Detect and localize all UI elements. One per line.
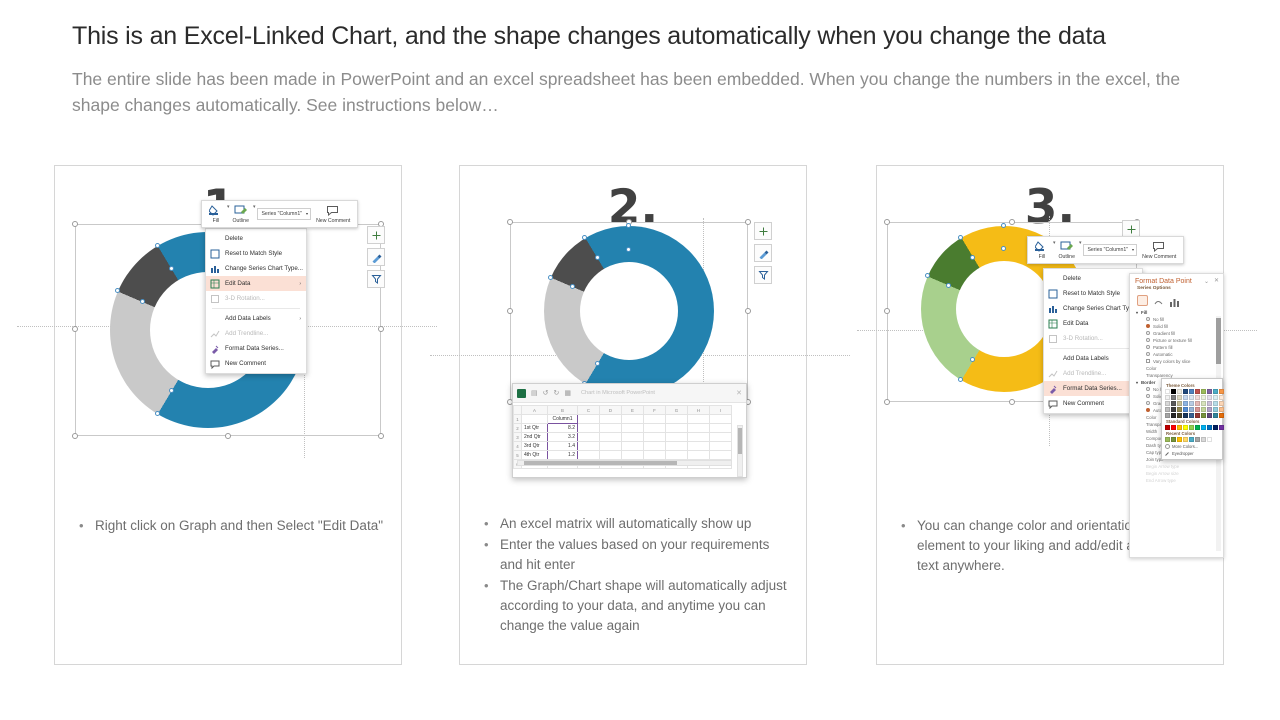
table-row[interactable]: 21st Qtr8.2: [514, 424, 732, 433]
chart-filters-icon[interactable]: [754, 266, 772, 284]
color-swatch[interactable]: [1171, 413, 1176, 418]
format-option-label: Border: [1141, 380, 1155, 385]
menu-item-label: Format Data Series...: [225, 345, 284, 352]
comment-icon: [326, 205, 340, 218]
menu-item-label: Reset to Match Style: [1063, 290, 1120, 297]
color-swatch[interactable]: [1183, 437, 1188, 442]
sheet-cell[interactable]: [644, 424, 666, 433]
sheet-cell[interactable]: [710, 415, 732, 424]
sheet-cell[interactable]: 1.2: [548, 451, 578, 460]
mini-toolbar[interactable]: Fill ▾ Outline ▾ Series "Column1" ▾ New …: [201, 200, 358, 228]
color-swatch[interactable]: [1171, 407, 1176, 412]
edit-data-icon: [210, 279, 220, 289]
close-icon[interactable]: ✕: [736, 389, 742, 397]
donut-chart[interactable]: [544, 226, 714, 396]
menu-item-new-comment[interactable]: New Comment: [206, 356, 306, 371]
radio-icon: [1146, 401, 1150, 405]
sheet-cell[interactable]: [688, 415, 710, 424]
bullet-item: An excel matrix will automatically show …: [498, 514, 794, 534]
data-point-handle[interactable]: [595, 361, 600, 366]
sheet-cell[interactable]: [600, 415, 622, 424]
color-swatch[interactable]: [1207, 413, 1212, 418]
data-point-handle[interactable]: [595, 255, 600, 260]
color-swatch[interactable]: [1189, 437, 1194, 442]
menu-item-reset-to-match-style[interactable]: Reset to Match Style: [206, 246, 306, 261]
color-swatch[interactable]: [1165, 425, 1170, 430]
resize-handle-w[interactable]: [72, 326, 78, 332]
color-swatch[interactable]: [1213, 407, 1218, 412]
color-swatch[interactable]: [1177, 395, 1182, 400]
resize-handle-w[interactable]: [507, 308, 513, 314]
color-swatch[interactable]: [1201, 401, 1206, 406]
column-header[interactable]: A: [522, 406, 548, 415]
sheet-cell[interactable]: [600, 424, 622, 433]
table-row[interactable]: 54th Qtr1.2: [514, 451, 732, 460]
sheet-cell[interactable]: [578, 433, 600, 442]
sheet-cell[interactable]: 1.4: [548, 442, 578, 451]
format-option-begin-arrow-size: Begin Arrow size: [1130, 470, 1223, 477]
menu-item-delete[interactable]: Delete: [1044, 271, 1142, 286]
data-point-handle[interactable]: [1001, 223, 1006, 228]
sheet-cell[interactable]: [622, 433, 644, 442]
sheet-cell[interactable]: [688, 424, 710, 433]
format-option-solid-fill[interactable]: Solid fill: [1130, 323, 1223, 330]
menu-item-delete[interactable]: Delete: [206, 231, 306, 246]
pin-icon[interactable]: ⌄: [1204, 278, 1209, 285]
vertical-scrollbar[interactable]: [737, 425, 743, 477]
color-swatch[interactable]: [1195, 395, 1200, 400]
step-panel-3: 3. Fill: [876, 165, 1224, 665]
sheet-cell[interactable]: Column1: [548, 415, 578, 424]
chart-filters-icon[interactable]: [367, 270, 385, 288]
color-swatch[interactable]: [1183, 407, 1188, 412]
table-row[interactable]: 43rd Qtr1.4: [514, 442, 732, 451]
color-swatch[interactable]: [1189, 389, 1194, 394]
chart-styles-icon[interactable]: [754, 244, 772, 262]
eyedropper-button[interactable]: Eyedropper: [1165, 451, 1219, 456]
series-options-tab-icon[interactable]: [1169, 295, 1180, 306]
color-swatch[interactable]: [1195, 413, 1200, 418]
resize-handle-ne[interactable]: [745, 219, 751, 225]
column-header[interactable]: F: [644, 406, 666, 415]
fill-button[interactable]: Fill: [1032, 240, 1052, 261]
radio-icon: [1146, 394, 1150, 398]
open-in-excel-icon[interactable]: ▦: [564, 389, 571, 397]
format-option-gradient-fill[interactable]: Gradient fill: [1130, 330, 1223, 337]
menu-item-label: Add Data Labels: [1063, 355, 1109, 362]
bullet-item: The Graph/Chart shape will automatically…: [498, 576, 794, 636]
color-swatch[interactable]: [1207, 437, 1212, 442]
sheet-cell[interactable]: [622, 451, 644, 460]
data-point-handle[interactable]: [140, 299, 145, 304]
sheet-cell[interactable]: [666, 451, 688, 460]
format-option-label: Begin Arrow size: [1146, 471, 1179, 476]
data-labels-icon: [1048, 354, 1058, 364]
column-header[interactable]: I: [710, 406, 732, 415]
sheet-cell[interactable]: [600, 451, 622, 460]
resize-handle-s[interactable]: [225, 433, 231, 439]
color-picker-popup[interactable]: Theme Colors Standard Colors Recent Colo…: [1161, 378, 1223, 460]
sheet-cell[interactable]: [622, 415, 644, 424]
standard-colors-grid[interactable]: [1165, 425, 1219, 430]
format-option-label: Color: [1146, 366, 1157, 371]
format-option-pattern-fill[interactable]: Pattern fill: [1130, 344, 1223, 351]
resize-handle-se[interactable]: [378, 433, 384, 439]
menu-item-change-series-chart-type[interactable]: Change Series Chart Type...: [1044, 301, 1142, 316]
chevron-right-icon: ›: [299, 316, 301, 322]
sheet-cell[interactable]: [688, 433, 710, 442]
sheet-cell[interactable]: [710, 424, 732, 433]
format-option-label: Solid fill: [1153, 324, 1168, 329]
format-option-label: Picture or texture fill: [1153, 338, 1192, 343]
resize-handle-sw[interactable]: [884, 399, 890, 405]
sheet-cell[interactable]: [578, 415, 600, 424]
sheet-cell[interactable]: [666, 415, 688, 424]
chevron-down-icon: ▾: [1132, 247, 1134, 252]
context-menu[interactable]: DeleteReset to Match StyleChange Series …: [205, 228, 307, 374]
scroll-thumb[interactable]: [738, 428, 742, 454]
menu-item-change-series-chart-type[interactable]: Change Series Chart Type...: [206, 261, 306, 276]
format-option-label: Begin Arrow type: [1146, 464, 1179, 469]
menu-item-edit-data[interactable]: Edit Data›: [1044, 316, 1142, 331]
sheet-corner[interactable]: [514, 406, 522, 415]
theme-colors-grid[interactable]: [1165, 389, 1219, 418]
color-swatch[interactable]: [1165, 389, 1170, 394]
donut-hole: [580, 262, 678, 360]
checkbox-icon: [1146, 359, 1150, 363]
table-row[interactable]: 1Column1: [514, 415, 732, 424]
data-point-handle[interactable]: [169, 266, 174, 271]
menu-item-reset-to-match-style[interactable]: Reset to Match Style: [1044, 286, 1142, 301]
menu-item-label: Delete: [1063, 275, 1081, 282]
data-point-handle[interactable]: [115, 288, 120, 293]
format-option-label: Vary colors by slice: [1153, 359, 1191, 364]
series-select[interactable]: Series "Column1" ▾: [257, 208, 311, 220]
new-comment-label: New Comment: [1142, 254, 1176, 260]
redo-icon[interactable]: ↻: [554, 389, 560, 397]
color-swatch[interactable]: [1177, 389, 1182, 394]
chart-elements-icon[interactable]: [754, 222, 772, 240]
radio-icon: [1146, 338, 1150, 342]
color-swatch[interactable]: [1171, 389, 1176, 394]
color-swatch[interactable]: [1207, 395, 1212, 400]
chart-styles-icon[interactable]: [367, 248, 385, 266]
resize-handle-nw[interactable]: [507, 219, 513, 225]
color-swatch[interactable]: [1165, 407, 1170, 412]
format-pane-tabs: [1130, 293, 1223, 309]
outline-dropdown-icon[interactable]: ▾: [253, 204, 256, 210]
sheet-cell[interactable]: [644, 451, 666, 460]
color-swatch[interactable]: [1207, 389, 1212, 394]
sheet-cell[interactable]: 2nd Qtr: [522, 433, 548, 442]
color-swatch[interactable]: [1213, 401, 1218, 406]
resize-handle-e[interactable]: [745, 308, 751, 314]
menu-item-new-comment[interactable]: New Comment: [1044, 396, 1142, 411]
menu-item-3-d-rotation: 3-D Rotation...: [1044, 331, 1142, 346]
data-point-handle[interactable]: [958, 235, 963, 240]
column-header[interactable]: B: [548, 406, 578, 415]
data-point-handle[interactable]: [970, 255, 975, 260]
color-swatch[interactable]: [1213, 389, 1218, 394]
color-swatch[interactable]: [1207, 401, 1212, 406]
format-option-automatic[interactable]: Automatic: [1130, 351, 1223, 358]
color-swatch[interactable]: [1195, 407, 1200, 412]
column-header[interactable]: E: [622, 406, 644, 415]
color-swatch[interactable]: [1183, 425, 1188, 430]
color-swatch[interactable]: [1189, 395, 1194, 400]
fill-line-tab-icon[interactable]: [1137, 295, 1148, 306]
context-menu[interactable]: DeleteReset to Match StyleChange Series …: [1043, 268, 1143, 414]
sheet-cell[interactable]: [578, 451, 600, 460]
sheet-cell[interactable]: 4th Qtr: [522, 451, 548, 460]
sheet-cell[interactable]: [622, 442, 644, 451]
undo-icon[interactable]: ↺: [543, 389, 549, 397]
format-option-picture-or-texture-fill[interactable]: Picture or texture fill: [1130, 337, 1223, 344]
sheet-cell[interactable]: [578, 442, 600, 451]
color-swatch[interactable]: [1213, 413, 1218, 418]
color-swatch[interactable]: [1213, 425, 1218, 430]
format-option-label: Gradient fill: [1153, 331, 1175, 336]
sheet-cell[interactable]: [522, 415, 548, 424]
color-swatch[interactable]: [1207, 425, 1212, 430]
color-swatch[interactable]: [1165, 413, 1170, 418]
page-subtitle: The entire slide has been made in PowerP…: [72, 66, 1202, 118]
menu-item-edit-data[interactable]: Edit Data›: [206, 276, 306, 291]
color-swatch[interactable]: [1165, 437, 1170, 442]
color-swatch[interactable]: [1201, 407, 1206, 412]
close-icon[interactable]: ✕: [1214, 277, 1219, 284]
color-swatch[interactable]: [1165, 401, 1170, 406]
sheet-cell[interactable]: [644, 433, 666, 442]
sheet-cell[interactable]: [710, 442, 732, 451]
color-swatch[interactable]: [1201, 413, 1206, 418]
data-point-handle[interactable]: [169, 388, 174, 393]
data-point-handle[interactable]: [582, 235, 587, 240]
horizontal-scrollbar[interactable]: [517, 460, 732, 466]
color-swatch[interactable]: [1183, 413, 1188, 418]
fill-icon: [209, 205, 223, 218]
chevron-right-icon: ›: [299, 281, 301, 287]
format-option-label: End Arrow type: [1146, 478, 1176, 483]
sheet-cell[interactable]: [710, 451, 732, 460]
color-swatch[interactable]: [1219, 413, 1224, 418]
radio-icon: [1146, 387, 1150, 391]
row-header[interactable]: 3: [514, 433, 522, 442]
menu-item-label: 3-D Rotation...: [1063, 335, 1103, 342]
color-swatch[interactable]: [1177, 413, 1182, 418]
step-2-illustration: ▤ ↺ ↻ ▦ Chart in Microsoft PowerPoint ✕ …: [460, 228, 806, 548]
color-swatch[interactable]: [1183, 389, 1188, 394]
scroll-thumb[interactable]: [524, 461, 677, 465]
data-point-handle[interactable]: [155, 243, 160, 248]
color-swatch[interactable]: [1177, 401, 1182, 406]
menu-item-add-trendline: Add Trendline...: [1044, 366, 1142, 381]
sheet-cell[interactable]: 8.2: [548, 424, 578, 433]
sheet-cell[interactable]: [600, 433, 622, 442]
save-icon[interactable]: ▤: [531, 389, 538, 397]
more-colors-button[interactable]: More Colors...: [1165, 444, 1219, 449]
format-option-label: Width: [1146, 429, 1157, 434]
sheet-cell[interactable]: [688, 451, 710, 460]
sheet-cell[interactable]: [710, 433, 732, 442]
color-swatch[interactable]: [1195, 401, 1200, 406]
resize-handle-e[interactable]: [378, 326, 384, 332]
outline-dropdown-icon[interactable]: ▾: [1079, 240, 1082, 246]
color-swatch[interactable]: [1171, 437, 1176, 442]
new-comment-button[interactable]: New Comment: [1139, 240, 1179, 261]
data-point-handle[interactable]: [925, 273, 930, 278]
color-swatch[interactable]: [1201, 389, 1206, 394]
sheet-cell[interactable]: 3rd Qtr: [522, 442, 548, 451]
mini-toolbar[interactable]: Fill ▾ Outline ▾ Series "Column1" ▾ New …: [1027, 236, 1184, 264]
color-swatch[interactable]: [1213, 395, 1218, 400]
more-colors-icon: [1165, 444, 1170, 449]
color-swatch[interactable]: [1195, 389, 1200, 394]
chevron-down-icon: ▾: [306, 211, 308, 216]
sheet-cell[interactable]: [666, 424, 688, 433]
data-point-handle[interactable]: [570, 284, 575, 289]
color-swatch[interactable]: [1195, 437, 1200, 442]
new-comment-button[interactable]: New Comment: [313, 204, 353, 225]
row-header[interactable]: 2: [514, 424, 522, 433]
sheet-cell[interactable]: [644, 415, 666, 424]
format-option-vary-colors-by-slice[interactable]: Vary colors by slice: [1130, 358, 1223, 365]
fill-button[interactable]: Fill: [206, 204, 226, 225]
table-row[interactable]: 32nd Qtr3.2: [514, 433, 732, 442]
sheet-cell[interactable]: 3.2: [548, 433, 578, 442]
color-swatch[interactable]: [1177, 425, 1182, 430]
series-select[interactable]: Series "Column1" ▾: [1083, 244, 1137, 256]
color-swatch[interactable]: [1219, 407, 1224, 412]
sheet-cell[interactable]: [600, 442, 622, 451]
format-series-icon: [210, 344, 220, 354]
color-swatch[interactable]: [1195, 425, 1200, 430]
eyedropper-icon: [1165, 451, 1170, 456]
resize-handle-sw[interactable]: [72, 433, 78, 439]
page-title: This is an Excel-Linked Chart, and the s…: [72, 22, 1212, 51]
data-point-handle[interactable]: [946, 283, 951, 288]
format-option-fill[interactable]: ▾Fill: [1130, 309, 1223, 316]
radio-icon: [1146, 352, 1150, 356]
radio-icon: [1146, 345, 1150, 349]
data-point-handle[interactable]: [155, 411, 160, 416]
color-swatch[interactable]: [1183, 401, 1188, 406]
resize-handle-w[interactable]: [884, 308, 890, 314]
chart-elements-icon[interactable]: [367, 226, 385, 244]
color-swatch[interactable]: [1165, 395, 1170, 400]
color-swatch[interactable]: [1219, 389, 1224, 394]
outline-icon: [234, 205, 248, 218]
color-swatch[interactable]: [1171, 401, 1176, 406]
step-2-bullets: An excel matrix will automatically show …: [482, 514, 794, 637]
radio-icon: [1146, 331, 1150, 335]
menu-item-add-data-labels[interactable]: Add Data Labels›: [1044, 351, 1142, 366]
trendline-icon: [210, 329, 220, 339]
sheet-cell[interactable]: [622, 424, 644, 433]
row-header[interactable]: 5: [514, 451, 522, 460]
color-swatch[interactable]: [1189, 407, 1194, 412]
color-swatch[interactable]: [1171, 395, 1176, 400]
outline-label: Outline: [1059, 254, 1075, 260]
row-header[interactable]: 1: [514, 415, 522, 424]
recent-colors-grid[interactable]: [1165, 437, 1219, 442]
color-swatch[interactable]: [1219, 425, 1224, 430]
color-swatch[interactable]: [1219, 395, 1224, 400]
sheet-cell[interactable]: 1st Qtr: [522, 424, 548, 433]
outline-button[interactable]: Outline: [230, 204, 252, 225]
format-option-no-fill[interactable]: No fill: [1130, 316, 1223, 323]
excel-grid[interactable]: ABCDEFGHI1Column121st Qtr8.232nd Qtr3.24…: [513, 403, 746, 469]
data-point-handle[interactable]: [626, 247, 631, 252]
menu-item-label: New Comment: [225, 360, 266, 367]
comment-icon: [1048, 399, 1058, 409]
sheet-cell[interactable]: [688, 442, 710, 451]
color-swatch[interactable]: [1177, 407, 1182, 412]
color-swatch[interactable]: [1189, 401, 1194, 406]
format-pane-subtitle[interactable]: Series Options: [1130, 286, 1223, 293]
color-swatch[interactable]: [1201, 425, 1206, 430]
column-header[interactable]: H: [688, 406, 710, 415]
menu-item-format-data-series[interactable]: Format Data Series...: [206, 341, 306, 356]
step-panel-2: 2.: [459, 165, 807, 665]
format-option-label: No fill: [1153, 317, 1164, 322]
data-point-handle[interactable]: [548, 275, 553, 280]
color-swatch[interactable]: [1177, 437, 1182, 442]
outline-button[interactable]: Outline: [1056, 240, 1078, 261]
color-swatch[interactable]: [1189, 413, 1194, 418]
sheet-cell[interactable]: [666, 442, 688, 451]
color-swatch[interactable]: [1207, 407, 1212, 412]
color-swatch[interactable]: [1183, 395, 1188, 400]
scroll-thumb[interactable]: [1216, 318, 1221, 364]
column-header[interactable]: G: [666, 406, 688, 415]
data-point-handle[interactable]: [1001, 246, 1006, 251]
reset-style-icon: [210, 249, 220, 259]
column-header[interactable]: D: [600, 406, 622, 415]
step-3-illustration: Fill ▾ Outline ▾ Series "Column1" ▾ New …: [877, 228, 1223, 548]
sheet-cell[interactable]: [644, 442, 666, 451]
column-header[interactable]: C: [578, 406, 600, 415]
menu-item-add-data-labels[interactable]: Add Data Labels›: [206, 311, 306, 326]
data-point-handle[interactable]: [626, 223, 631, 228]
menu-item-format-data-series[interactable]: Format Data Series...: [1044, 381, 1142, 396]
color-swatch[interactable]: [1201, 437, 1206, 442]
menu-item-label: 3-D Rotation...: [225, 295, 265, 302]
format-option-color[interactable]: Color: [1130, 365, 1223, 372]
excel-app-icon: [517, 389, 526, 398]
chevron-down-icon: ▾: [1136, 310, 1138, 315]
row-header[interactable]: 4: [514, 442, 522, 451]
sheet-cell[interactable]: [578, 424, 600, 433]
color-swatch[interactable]: [1171, 425, 1176, 430]
excel-title-bar: ▤ ↺ ↻ ▦ Chart in Microsoft PowerPoint ✕: [513, 384, 746, 403]
color-swatch[interactable]: [1219, 401, 1224, 406]
eyedropper-label: Eyedropper: [1172, 451, 1194, 456]
resize-handle-n[interactable]: [1009, 219, 1015, 225]
effects-tab-icon[interactable]: [1153, 295, 1164, 306]
data-point-handle[interactable]: [970, 357, 975, 362]
resize-handle-nw[interactable]: [884, 219, 890, 225]
excel-window[interactable]: ▤ ↺ ↻ ▦ Chart in Microsoft PowerPoint ✕ …: [512, 383, 747, 478]
format-series-icon: [1048, 384, 1058, 394]
color-swatch[interactable]: [1189, 425, 1194, 430]
color-swatch[interactable]: [1201, 395, 1206, 400]
sheet-cell[interactable]: [666, 433, 688, 442]
rotation-icon: [210, 294, 220, 304]
resize-handle-s[interactable]: [1009, 399, 1015, 405]
resize-handle-nw[interactable]: [72, 221, 78, 227]
data-point-handle[interactable]: [958, 377, 963, 382]
